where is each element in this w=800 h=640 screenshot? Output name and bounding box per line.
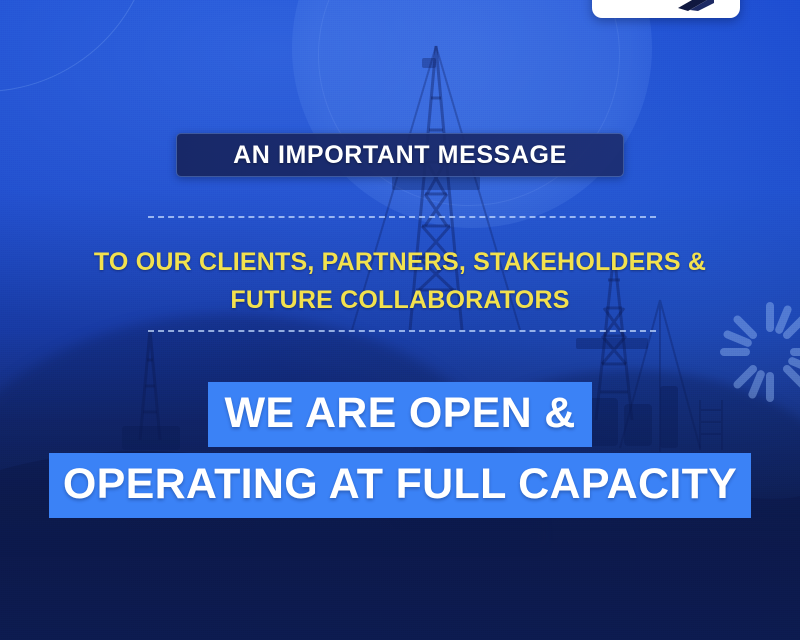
banner-content: AN IMPORTANT MESSAGE TO OUR CLIENTS, PAR… bbox=[0, 0, 800, 640]
subheading-line-1: TO OUR CLIENTS, PARTNERS, STAKEHOLDERS & bbox=[0, 243, 800, 281]
divider-top bbox=[148, 216, 656, 218]
headline-line-2: OPERATING AT FULL CAPACITY bbox=[49, 453, 751, 518]
announcement-banner: AN IMPORTANT MESSAGE TO OUR CLIENTS, PAR… bbox=[0, 0, 800, 640]
banner-subheading: TO OUR CLIENTS, PARTNERS, STAKEHOLDERS &… bbox=[0, 243, 800, 319]
ribbon-label: AN IMPORTANT MESSAGE bbox=[233, 143, 567, 168]
divider-bottom bbox=[148, 330, 656, 332]
important-message-ribbon: AN IMPORTANT MESSAGE bbox=[176, 133, 624, 177]
headline-line-1: WE ARE OPEN & bbox=[208, 382, 591, 447]
headline-line-2-wrap: OPERATING AT FULL CAPACITY bbox=[0, 453, 800, 518]
banner-headline: WE ARE OPEN & OPERATING AT FULL CAPACITY bbox=[0, 382, 800, 524]
subheading-line-2: FUTURE COLLABORATORS bbox=[0, 281, 800, 319]
headline-line-1-wrap: WE ARE OPEN & bbox=[0, 382, 800, 447]
